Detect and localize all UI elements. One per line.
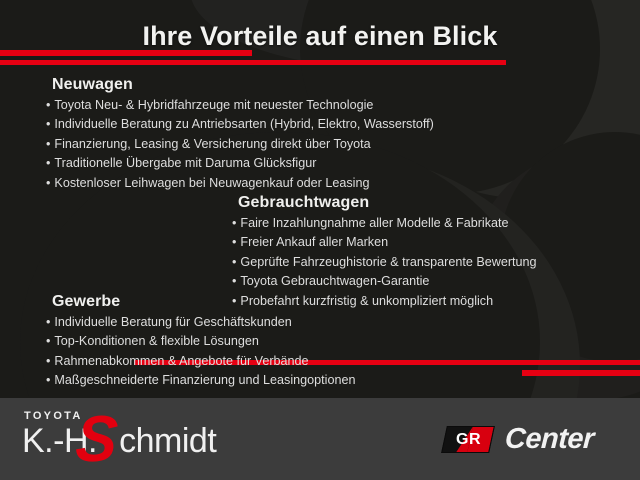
dealer-logo-s-mark: S bbox=[74, 407, 120, 472]
footer-bar: TOYOTA K.-H.Schmidt S GR Center bbox=[0, 398, 640, 480]
list-item-label: Freier Ankauf aller Marken bbox=[240, 235, 388, 249]
bullet-icon: • bbox=[46, 137, 50, 151]
list-item-label: Toyota Neu- & Hybridfahrzeuge mit neuest… bbox=[54, 98, 373, 112]
page-title: Ihre Vorteile auf einen Blick bbox=[0, 21, 640, 52]
section-gewerbe-title: Gewerbe bbox=[52, 293, 355, 311]
bullet-icon: • bbox=[46, 156, 50, 170]
section-gebrauchtwagen-title: Gebrauchtwagen bbox=[238, 194, 537, 212]
list-item: •Finanzierung, Leasing & Versicherung di… bbox=[46, 135, 434, 154]
bullet-icon: • bbox=[46, 98, 50, 112]
list-item-label: Kostenloser Leihwagen bei Neuwagenkauf o… bbox=[54, 176, 369, 190]
accent-bar-top-left-lower bbox=[0, 60, 506, 65]
bullet-icon: • bbox=[46, 354, 50, 368]
accent-bar-bottom-right-lower bbox=[522, 370, 640, 376]
gr-center-logo: GR Center bbox=[444, 420, 594, 458]
list-item-label: Maßgeschneiderte Finanzierung und Leasin… bbox=[54, 373, 355, 387]
bullet-icon: • bbox=[232, 255, 236, 269]
list-item: •Freier Ankauf aller Marken bbox=[232, 233, 537, 252]
list-item: •Individuelle Beratung für Geschäftskund… bbox=[46, 313, 355, 332]
list-item: •Rahmenabkommen & Angebote für Verbände bbox=[46, 352, 355, 371]
section-gewerbe: Gewerbe •Individuelle Beratung für Gesch… bbox=[46, 293, 355, 391]
section-neuwagen: Neuwagen •Toyota Neu- & Hybridfahrzeuge … bbox=[46, 76, 434, 193]
list-item: •Maßgeschneiderte Finanzierung und Leasi… bbox=[46, 371, 355, 390]
list-item: •Top-Konditionen & flexible Lösungen bbox=[46, 332, 355, 351]
list-item-label: Top-Konditionen & flexible Lösungen bbox=[54, 334, 258, 348]
bullet-icon: • bbox=[46, 117, 50, 131]
list-item-label: Geprüfte Fahrzeughistorie & transparente… bbox=[240, 255, 536, 269]
list-item: •Traditionelle Übergabe mit Daruma Glück… bbox=[46, 154, 434, 173]
list-item: •Toyota Neu- & Hybridfahrzeuge mit neues… bbox=[46, 96, 434, 115]
list-item-label: Individuelle Beratung zu Antriebsarten (… bbox=[54, 117, 433, 131]
list-item-label: Faire Inzahlungnahme aller Modelle & Fab… bbox=[240, 216, 508, 230]
bullet-icon: • bbox=[46, 176, 50, 190]
list-item: •Toyota Gebrauchtwagen-Garantie bbox=[232, 272, 537, 291]
section-neuwagen-title: Neuwagen bbox=[52, 76, 434, 94]
toyota-wordmark: TOYOTA bbox=[24, 410, 83, 422]
section-neuwagen-list: •Toyota Neu- & Hybridfahrzeuge mit neues… bbox=[46, 96, 434, 193]
slide-canvas: Ihre Vorteile auf einen Blick Neuwagen •… bbox=[0, 0, 640, 480]
list-item-label: Toyota Gebrauchtwagen-Garantie bbox=[240, 274, 429, 288]
bullet-icon: • bbox=[46, 334, 50, 348]
dealer-name: K.-H.Schmidt bbox=[22, 422, 216, 461]
section-gewerbe-list: •Individuelle Beratung für Geschäftskund… bbox=[46, 313, 355, 391]
bullet-icon: • bbox=[232, 216, 236, 230]
list-item: •Individuelle Beratung zu Antriebsarten … bbox=[46, 115, 434, 134]
bullet-icon: • bbox=[232, 235, 236, 249]
dealer-name-suffix: chmidt bbox=[119, 422, 216, 460]
list-item: •Geprüfte Fahrzeughistorie & transparent… bbox=[232, 253, 537, 272]
list-item-label: Finanzierung, Leasing & Versicherung dir… bbox=[54, 137, 370, 151]
gr-badge: GR bbox=[441, 426, 495, 453]
gr-badge-label: GR bbox=[445, 427, 491, 452]
list-item-label: Individuelle Beratung für Geschäftskunde… bbox=[54, 315, 291, 329]
list-item-label: Traditionelle Übergabe mit Daruma Glücks… bbox=[54, 156, 316, 170]
bullet-icon: • bbox=[232, 274, 236, 288]
bullet-icon: • bbox=[46, 373, 50, 387]
gr-center-word: Center bbox=[504, 423, 595, 456]
list-item: •Kostenloser Leihwagen bei Neuwagenkauf … bbox=[46, 174, 434, 193]
dealer-logo: TOYOTA K.-H.Schmidt S bbox=[22, 410, 262, 468]
bullet-icon: • bbox=[46, 315, 50, 329]
list-item-label: Rahmenabkommen & Angebote für Verbände bbox=[54, 354, 308, 368]
list-item: •Faire Inzahlungnahme aller Modelle & Fa… bbox=[232, 214, 537, 233]
